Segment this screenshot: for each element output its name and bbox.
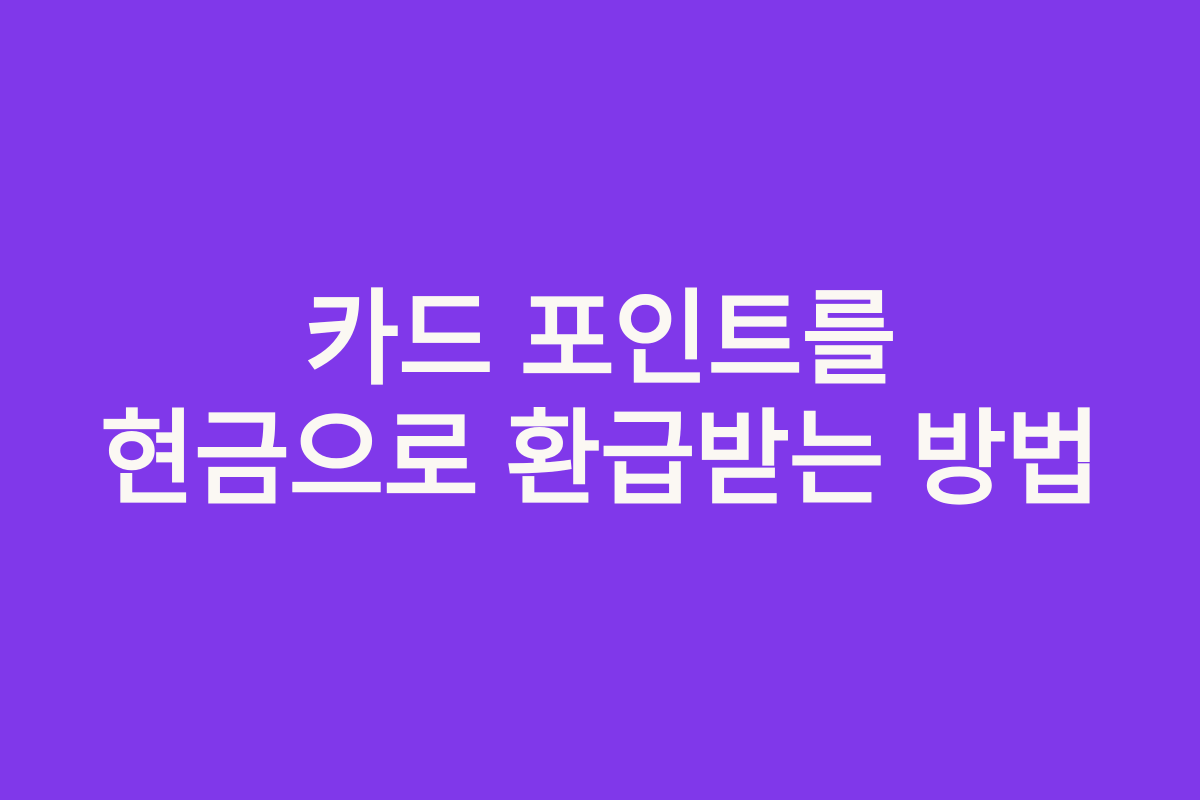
headline-line-1: 카드 포인트를	[273, 288, 928, 392]
promo-banner: 카드 포인트를 현금으로 환급받는 방법	[0, 0, 1200, 800]
headline-block: 카드 포인트를 현금으로 환급받는 방법	[0, 288, 1200, 512]
headline-line-2: 현금으로 환급받는 방법	[49, 408, 1151, 512]
headline-line-1-container: 카드 포인트를	[270, 288, 930, 408]
headline-line-2-container: 현금으로 환급받는 방법	[48, 408, 1152, 512]
